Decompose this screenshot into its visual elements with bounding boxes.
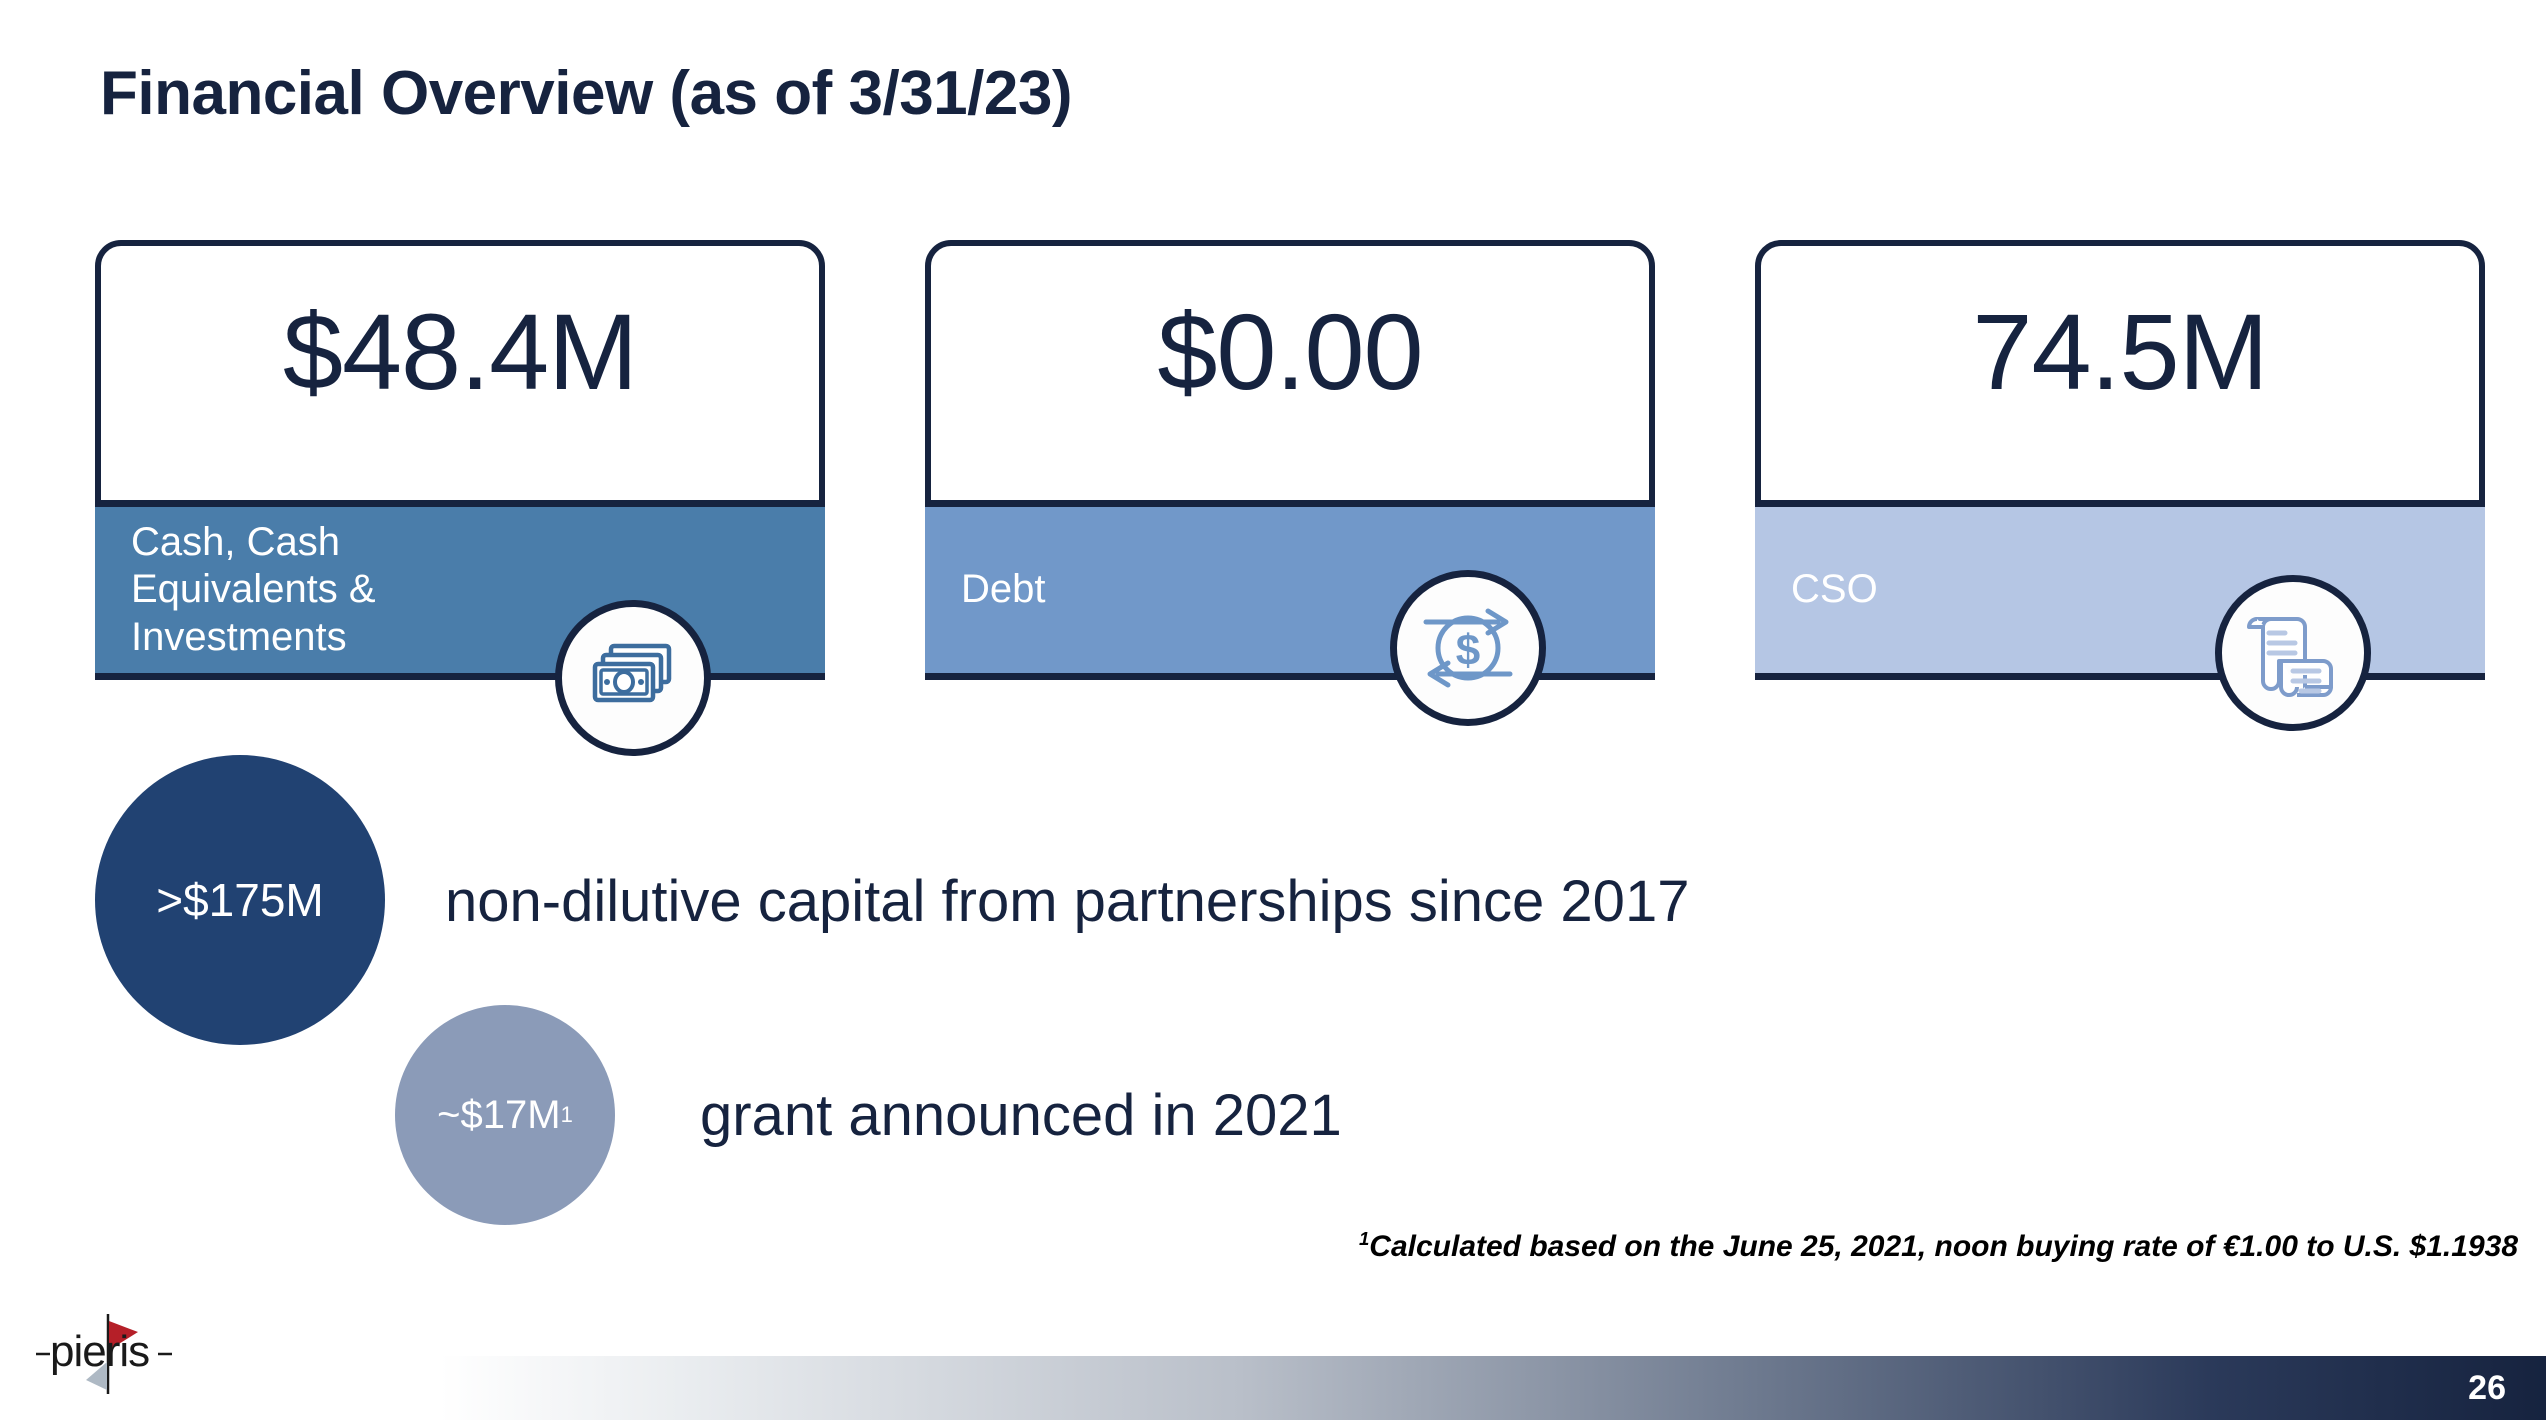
metric-label-band: CSO <box>1755 500 2485 680</box>
metric-card-cso: 74.5M CSO <box>1755 240 2485 680</box>
footnote-text: Calculated based on the June 25, 2021, n… <box>1369 1230 2518 1263</box>
page-number: 26 <box>2468 1364 2506 1412</box>
scroll-document-icon <box>2215 575 2371 731</box>
stat-bubble-value: >$175M <box>156 873 324 927</box>
footnote-marker: 1 <box>1359 1228 1369 1249</box>
footer-gradient-bar: 26 <box>440 1356 2546 1420</box>
pieris-logo: pieris <box>30 1310 230 1398</box>
banknotes-icon <box>555 600 711 756</box>
svg-text:pieris: pieris <box>50 1327 149 1376</box>
metric-label: Debt <box>961 566 1046 613</box>
statement-grant: grant announced in 2021 <box>700 1082 1342 1149</box>
stat-bubble-non-dilutive: >$175M <box>95 755 385 1045</box>
metric-label: Cash, Cash Equivalents & Investments <box>131 519 376 661</box>
stat-bubble-grant: ~$17M1 <box>395 1005 615 1225</box>
page-title: Financial Overview (as of 3/31/23) <box>100 58 1072 129</box>
money-flow-icon: $ <box>1390 570 1546 726</box>
metric-label: CSO <box>1791 566 1878 613</box>
metric-value: $48.4M <box>101 298 819 406</box>
footnote: 1Calculated based on the June 25, 2021, … <box>1359 1230 2518 1264</box>
metric-label-band: Cash, Cash Equivalents & Investments <box>95 500 825 680</box>
metric-value: 74.5M <box>1761 298 2479 406</box>
metric-card-debt: $0.00 Debt <box>925 240 1655 680</box>
svg-text:$: $ <box>1456 626 1480 675</box>
metric-card-cash: $48.4M Cash, Cash Equivalents & Investme… <box>95 240 825 680</box>
metric-value: $0.00 <box>931 298 1649 406</box>
stat-bubble-value: ~$17M <box>437 1093 560 1138</box>
statement-non-dilutive: non-dilutive capital from partnerships s… <box>445 868 1689 935</box>
